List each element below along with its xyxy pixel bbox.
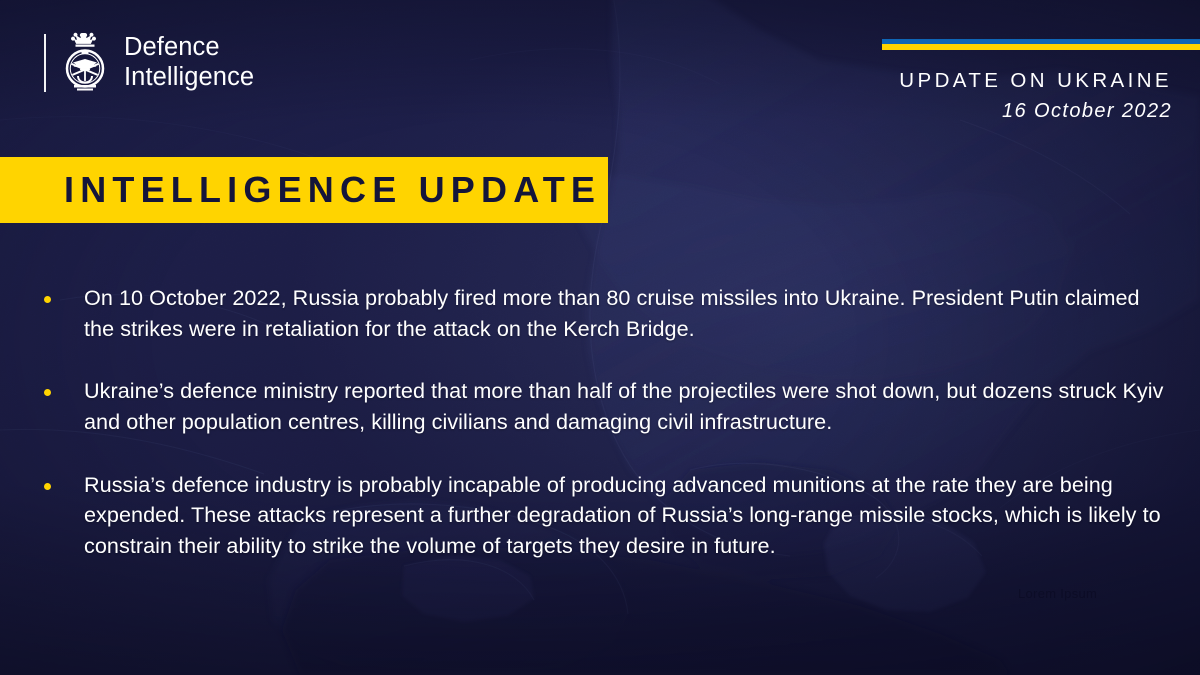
list-item: On 10 October 2022, Russia probably fire… xyxy=(44,283,1172,344)
update-date: 16 October 2022 xyxy=(899,99,1172,124)
brand-name: Defence Intelligence xyxy=(124,33,254,92)
list-item: Ukraine’s defence ministry reported that… xyxy=(44,376,1172,437)
bullet-list: On 10 October 2022, Russia probably fire… xyxy=(44,283,1172,562)
banner-label: INTELLIGENCE UPDATE xyxy=(0,169,601,211)
brand-line-1: Defence xyxy=(124,33,220,61)
vertical-rule-icon xyxy=(44,34,46,92)
bullet-dot-icon xyxy=(44,296,51,303)
bullet-dot-icon xyxy=(44,389,51,396)
bullet-text: Ukraine’s defence ministry reported that… xyxy=(84,376,1172,437)
bullet-text: On 10 October 2022, Russia probably fire… xyxy=(84,283,1172,344)
intelligence-update-slide: Defence Intelligence UPDATE ON UKRAINE 1… xyxy=(0,0,1200,675)
header: Defence Intelligence UPDATE ON UKRAINE 1… xyxy=(0,0,1200,150)
ukraine-flag-bar-icon xyxy=(882,39,1200,50)
update-title: UPDATE ON UKRAINE xyxy=(899,68,1172,94)
update-heading-block: UPDATE ON UKRAINE 16 October 2022 xyxy=(899,68,1172,124)
brand-lockup: Defence Intelligence xyxy=(44,32,254,94)
bullet-text: Russia’s defence industry is probably in… xyxy=(84,470,1172,562)
mod-crest-icon xyxy=(60,32,110,94)
flag-stripe-yellow xyxy=(882,44,1200,50)
watermark: Lorem Ipsum xyxy=(1018,586,1097,601)
brand-line-2: Intelligence xyxy=(124,63,254,93)
bullet-dot-icon xyxy=(44,483,51,490)
intelligence-update-banner: INTELLIGENCE UPDATE xyxy=(0,157,608,223)
list-item: Russia’s defence industry is probably in… xyxy=(44,470,1172,562)
